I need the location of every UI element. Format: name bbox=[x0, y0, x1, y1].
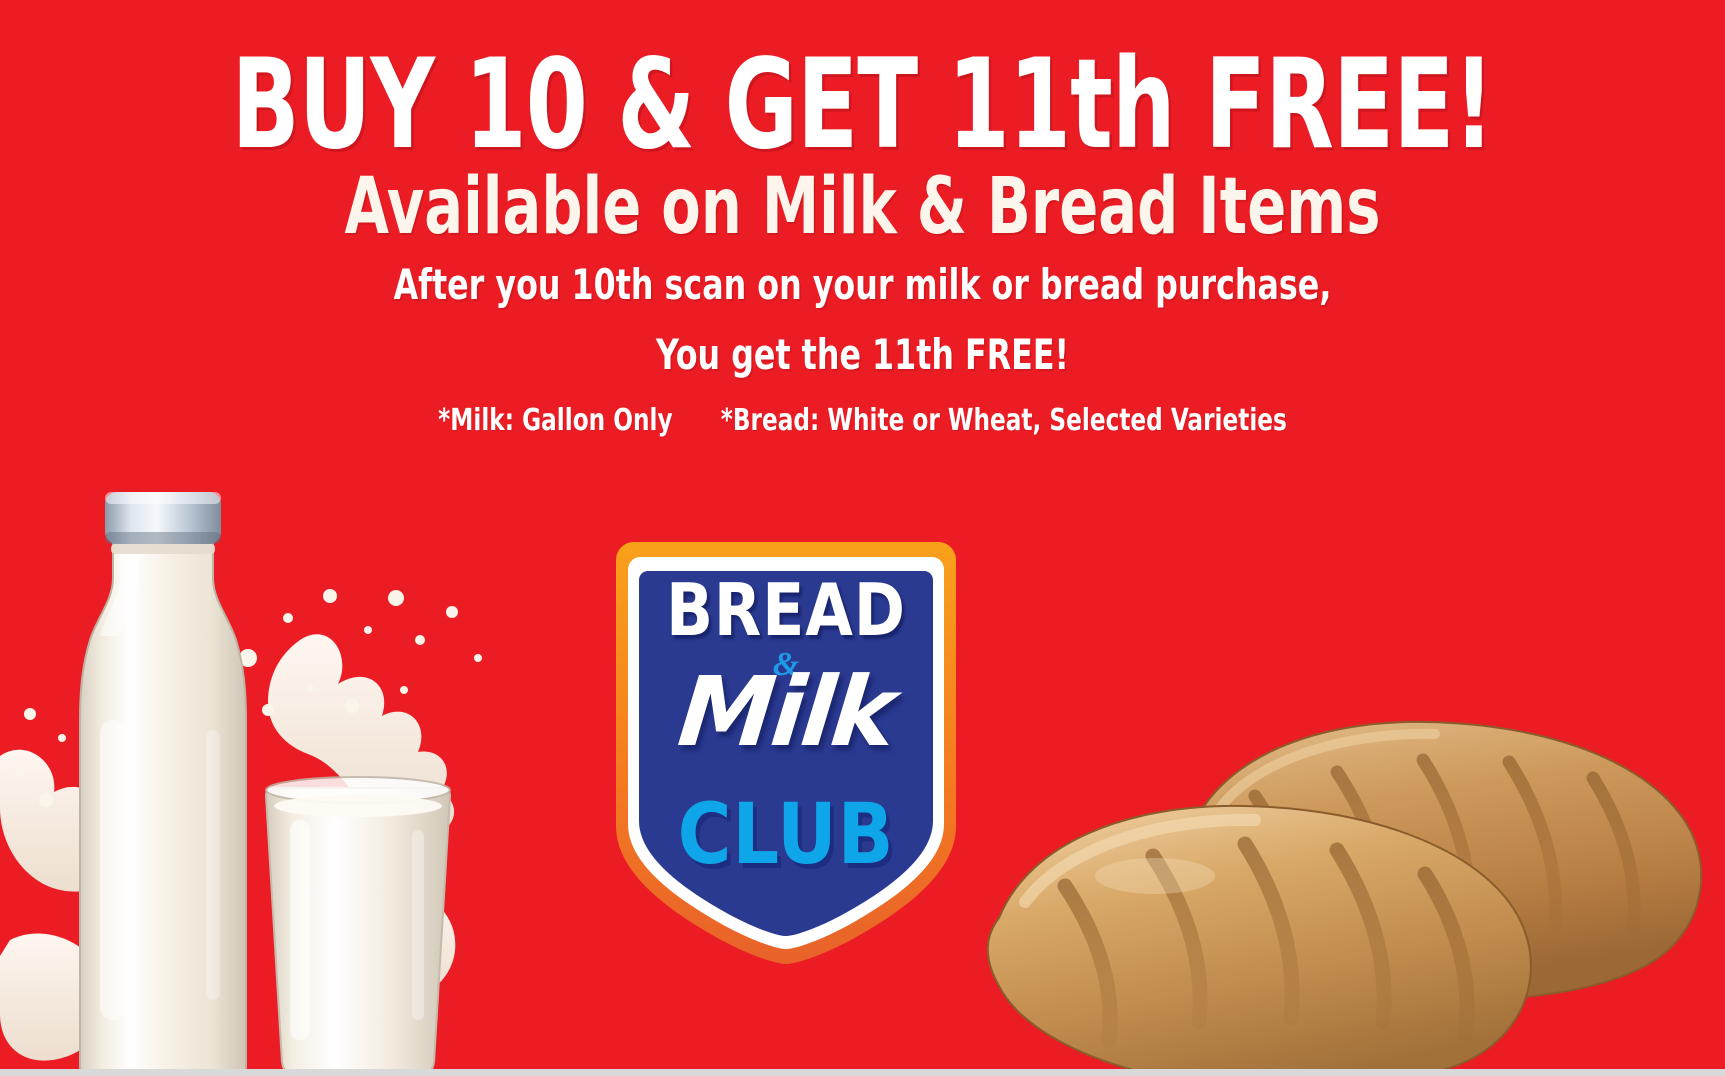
bread-imagery bbox=[955, 700, 1725, 1076]
shield-navy-field bbox=[639, 571, 933, 936]
body-line-1: After you 10th scan on your milk or brea… bbox=[138, 246, 1587, 306]
fineprint-line: *Milk: Gallon Only*Bread: White or Wheat… bbox=[121, 376, 1605, 436]
body-line-2: You get the 11th FREE! bbox=[138, 306, 1587, 376]
milk-glass-shape bbox=[266, 777, 450, 1076]
banner-text-block: BUY 10 & GET 11th FREE! Available on Mil… bbox=[0, 0, 1725, 436]
subheadline: Available on Milk & Bread Items bbox=[155, 162, 1570, 246]
milk-imagery bbox=[0, 470, 520, 1076]
fineprint-bread: *Bread: White or Wheat, Selected Varieti… bbox=[721, 403, 1287, 438]
fineprint-milk: *Milk: Gallon Only bbox=[438, 403, 672, 438]
headline: BUY 10 & GET 11th FREE! bbox=[173, 0, 1553, 162]
bread-milk-club-logo: BREAD & Milk CLUB bbox=[606, 536, 966, 966]
milk-bottle-shape bbox=[80, 492, 246, 1076]
promo-banner: BUY 10 & GET 11th FREE! Available on Mil… bbox=[0, 0, 1725, 1076]
bottom-edge-bar bbox=[0, 1069, 1725, 1076]
